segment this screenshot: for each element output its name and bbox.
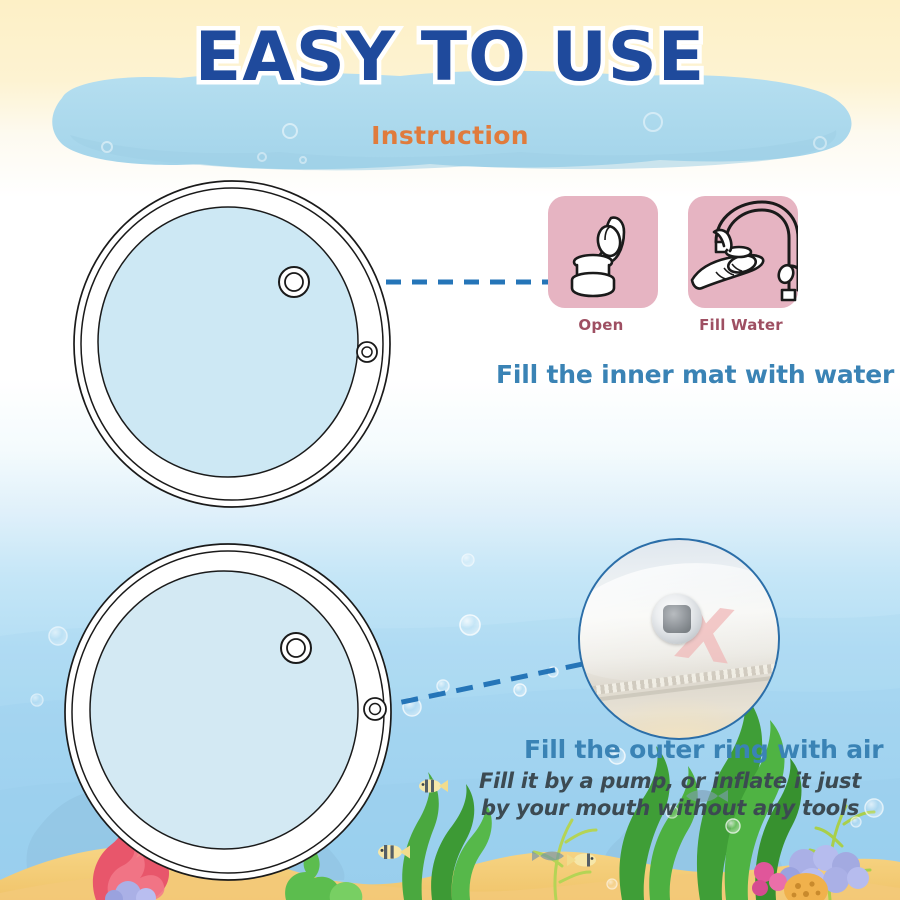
title-block: EASY TO USE	[0, 22, 900, 93]
step-note-air: Fill it by a pump, or inflate it just by…	[450, 768, 890, 822]
card-label-fill-water: Fill Water	[686, 316, 796, 334]
open-valve-icon	[548, 196, 658, 308]
instruction-cards: Open Fill Water	[548, 196, 808, 341]
card-open[interactable]	[548, 196, 658, 308]
photo-air-valve	[652, 594, 702, 644]
step-note-line2: by your mouth without any tools	[450, 795, 890, 822]
page-subtitle: Instruction	[0, 121, 900, 150]
card-fill-water[interactable]	[688, 196, 798, 308]
instruction-page: EASY TO USE Instruction	[0, 0, 900, 900]
page-title: EASY TO USE	[195, 22, 705, 93]
step-note-line1: Fill it by a pump, or inflate it just	[450, 768, 890, 795]
step-heading-air: Fill the outer ring with air	[524, 735, 883, 764]
step-heading-water: Fill the inner mat with water	[496, 360, 894, 389]
card-label-open: Open	[546, 316, 656, 334]
faucet-fill-water-icon	[688, 196, 798, 308]
air-valve-closeup-photo: X	[578, 538, 780, 740]
